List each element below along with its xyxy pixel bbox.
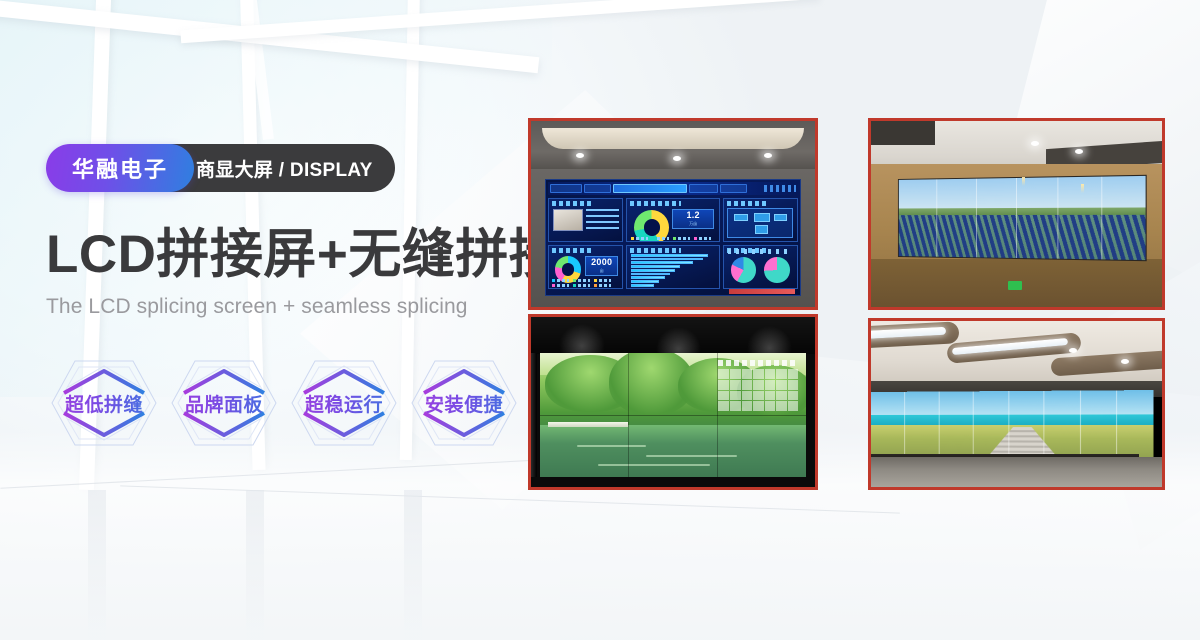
panel-seam — [1044, 391, 1045, 460]
bar-chart — [631, 254, 715, 287]
calendar-cell — [788, 401, 799, 411]
panel-seam — [1116, 391, 1117, 461]
calendar-cell — [742, 391, 753, 401]
flow-node — [755, 225, 768, 233]
bar — [631, 273, 670, 276]
dashboard-tab — [584, 184, 611, 193]
legend-item — [673, 237, 690, 240]
videowall-screen — [898, 175, 1147, 261]
calendar-cell — [765, 380, 776, 390]
bar — [631, 261, 693, 264]
dashboard-footer-bar — [729, 289, 795, 294]
photo-solar-farm-videowall[interactable] — [868, 118, 1165, 310]
calendar-cell — [753, 401, 764, 411]
water-glint — [577, 445, 646, 447]
flow-diagram — [727, 208, 793, 238]
bar — [631, 284, 655, 287]
feature-badge-3[interactable]: 超稳运行 — [286, 349, 402, 457]
calendar-cell — [742, 380, 753, 390]
dashboard-card-intro — [548, 198, 623, 242]
downlight-icon — [1069, 348, 1077, 353]
dashboard-card-bars — [626, 245, 720, 289]
feature-badge-4[interactable]: 安装便捷 — [406, 349, 522, 457]
flow-node — [774, 214, 787, 221]
flow-node — [754, 213, 771, 222]
legend-item — [631, 237, 648, 240]
kpi-tile: 2000 亩 — [585, 256, 619, 275]
chart-legend — [631, 237, 715, 240]
legend-item — [594, 284, 611, 287]
bar — [631, 276, 665, 279]
feature-badge-2[interactable]: 品牌面板 — [166, 349, 282, 457]
lake-water — [540, 425, 807, 477]
legend-item — [652, 237, 669, 240]
card-thumbnail — [553, 209, 584, 231]
card-title — [727, 201, 768, 206]
dashboard-title-tab — [613, 184, 687, 193]
legend-item — [552, 284, 569, 287]
panel-seam — [905, 392, 906, 459]
calendar-cell — [776, 380, 787, 390]
card-text-lines — [586, 209, 620, 233]
calendar-cell — [788, 369, 799, 379]
calendar-cell — [776, 369, 787, 379]
lake-railing — [548, 422, 628, 427]
dashboard-grid: 1.2 万亩 — [548, 195, 798, 289]
legend-item — [573, 284, 590, 287]
calendar-grid — [718, 369, 798, 411]
downlight-icon — [764, 153, 772, 158]
panel-seam — [1080, 391, 1081, 460]
feature-label: 安装便捷 — [406, 349, 522, 457]
exit-sign-icon — [1008, 281, 1023, 290]
wall-lamp-icon — [1022, 177, 1025, 186]
banner-copy: 商显大屏 / DISPLAY 华融电子 LCD拼接屏+无缝拼接 The LCD … — [46, 144, 526, 457]
calendar-cell — [730, 369, 741, 379]
photo-beach-boardwalk-videowall[interactable] — [868, 318, 1165, 490]
calendar-cell — [765, 401, 776, 411]
calendar-cell — [718, 391, 729, 401]
panel-seam — [973, 392, 974, 460]
photo-image: 1.2 万亩 — [531, 121, 815, 307]
dashboard-tab — [720, 184, 747, 193]
videowall-screen — [871, 390, 1153, 460]
floor-reflection-2 — [246, 490, 264, 640]
bar — [631, 258, 704, 261]
calendar-cell — [765, 391, 776, 401]
legend-item — [594, 279, 611, 282]
feature-hex-row: 超低拼缝 品牌面板 超稳运行 — [46, 349, 526, 457]
dashboard-header — [548, 182, 798, 195]
downlight-icon — [1075, 149, 1083, 154]
calendar-cell — [788, 380, 799, 390]
kpi-value: 1.2 — [686, 211, 699, 220]
calendar-cell — [753, 391, 764, 401]
floor — [871, 457, 1162, 487]
feature-label: 超稳运行 — [286, 349, 402, 457]
badge-row: 商显大屏 / DISPLAY 华融电子 — [46, 144, 526, 192]
feature-label: 品牌面板 — [166, 349, 282, 457]
wall-lamp-icon — [1081, 184, 1084, 193]
ceiling-recess-left — [871, 121, 935, 145]
legend-item — [552, 279, 569, 282]
calendar-cell — [776, 401, 787, 411]
calendar-cell — [730, 380, 741, 390]
floor-reflection-3 — [404, 490, 422, 640]
calendar-cell — [753, 380, 764, 390]
photo-willow-lake-videowall[interactable] — [528, 314, 818, 490]
side-bezel — [531, 353, 537, 477]
calendar-title — [718, 360, 798, 366]
calendar-overlay — [718, 360, 798, 412]
calendar-cell — [730, 391, 741, 401]
pie-chart-group — [727, 254, 794, 286]
legend-item — [573, 279, 590, 282]
water-glint — [646, 455, 737, 457]
calendar-cell — [753, 369, 764, 379]
photo-image — [531, 317, 815, 487]
panel-seam — [1008, 391, 1009, 459]
ceiling-cove — [542, 128, 803, 148]
product-photo-gallery: 1.2 万亩 — [528, 118, 1168, 490]
feature-badge-1[interactable]: 超低拼缝 — [46, 349, 162, 457]
calendar-cell — [718, 380, 729, 390]
bar — [631, 280, 660, 283]
kpi-unit: 万亩 — [689, 221, 697, 227]
bar — [631, 265, 680, 268]
videowall-screen — [540, 353, 807, 477]
dashboard-card-flow — [723, 198, 798, 242]
pie-chart — [731, 257, 757, 283]
downlight-icon — [576, 153, 584, 158]
card-title — [630, 248, 681, 253]
dashboard-card-pies — [723, 245, 798, 289]
floor-reflection-1 — [88, 490, 106, 640]
page-subtitle: The LCD splicing screen + seamless splic… — [46, 295, 526, 319]
brand-badge: 华融电子 — [46, 144, 194, 192]
kpi-value: 2000 — [591, 258, 612, 267]
calendar-cell — [730, 401, 741, 411]
calendar-cell — [765, 369, 776, 379]
card-title — [552, 248, 593, 253]
chart-legend — [552, 279, 619, 287]
card-title — [552, 201, 593, 206]
flow-node — [734, 214, 748, 221]
kpi-unit: 亩 — [600, 268, 604, 274]
calendar-cell — [742, 369, 753, 379]
dashboard-screen: 1.2 万亩 — [545, 179, 801, 296]
bar — [631, 254, 709, 257]
panel-seam — [939, 392, 940, 459]
calendar-cell — [776, 391, 787, 401]
legend-item — [694, 237, 711, 240]
feature-label: 超低拼缝 — [46, 349, 162, 457]
dashboard-header-status — [764, 185, 796, 192]
card-title — [630, 201, 681, 206]
calendar-cell — [788, 391, 799, 401]
panel-seam — [540, 415, 807, 416]
calendar-cell — [718, 369, 729, 379]
sky — [871, 390, 1153, 416]
dashboard-card-donut-count: 2000 亩 — [548, 245, 623, 289]
calendar-cell — [718, 401, 729, 411]
photo-dashboard-videowall[interactable]: 1.2 万亩 — [528, 118, 818, 310]
water-glint — [598, 464, 710, 466]
page-title: LCD拼接屏+无缝拼接 — [46, 228, 526, 282]
dashboard-tab — [689, 184, 718, 193]
dashboard-tab — [550, 184, 582, 193]
photo-image — [871, 321, 1162, 487]
bar — [631, 269, 675, 272]
photo-image — [871, 121, 1162, 307]
calendar-cell — [742, 401, 753, 411]
dashboard-card-donut-kpi: 1.2 万亩 — [626, 198, 720, 242]
pie-chart — [764, 257, 790, 283]
kpi-tile: 1.2 万亩 — [672, 209, 714, 228]
